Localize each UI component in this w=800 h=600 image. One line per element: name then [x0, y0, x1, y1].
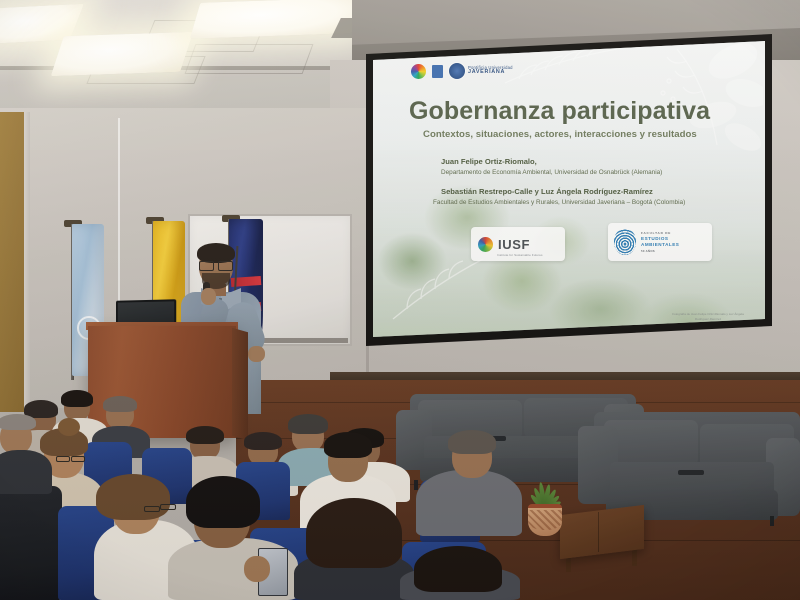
door-frame	[24, 112, 30, 412]
ceiling-panel	[185, 44, 314, 74]
slide-subtitle: Contextos, situaciones, actores, interac…	[423, 129, 753, 140]
slide-header-logos: Pontificia Universidad JAVERIANA	[411, 63, 513, 79]
auditorium-seat[interactable]	[0, 486, 62, 600]
facultad-line-4: 50 AÑOS	[641, 249, 655, 253]
slide-author-2: Sebastián Restrepo-Calle y Luz Ángela Ro…	[441, 187, 653, 196]
javeriana-wordmark-main: JAVERIANA	[468, 70, 513, 76]
ceiling-light-panel	[51, 32, 194, 76]
iusf-mark-icon	[478, 237, 493, 252]
rainbow-flower-logo-icon	[411, 64, 426, 79]
slide-affiliation-2: Facultad de Estudios Ambientales y Rural…	[433, 199, 685, 206]
podium-side-panel	[232, 328, 248, 441]
javeriana-logo: Pontificia Universidad JAVERIANA	[449, 63, 513, 79]
iusf-logo-badge: IUSF Institute for Sustainable Futures	[471, 227, 565, 261]
sofa-leg	[770, 516, 774, 526]
presenter-hair	[197, 243, 235, 263]
slide-title: Gobernanza participativa	[409, 97, 749, 126]
slide-author-1: Juan Felipe Ortiz-Riomalo,	[441, 157, 537, 166]
slide-affiliation-1: Departamento de Economía Ambiental, Univ…	[441, 169, 662, 176]
facultad-estudios-ambientales-rurales-badge: FACULTAD DE ESTUDIOS AMBIENTALES 50 AÑOS	[608, 223, 712, 261]
fingerprint-icon	[614, 229, 636, 255]
projection-screen: Pontificia Universidad JAVERIANA Goberna…	[373, 41, 765, 337]
wall-seam	[118, 118, 120, 314]
facultad-line-2: AMBIENTALES	[641, 242, 679, 247]
table-seam	[598, 512, 599, 552]
slide-photo-credit: Fotografía de Juan Felipe Ortiz-Riomalo …	[665, 312, 751, 321]
facultad-line-0: FACULTAD DE	[641, 231, 671, 235]
sofa-leg	[414, 480, 418, 490]
attendee-hand	[244, 556, 270, 582]
wooden-door[interactable]	[0, 112, 26, 412]
plant-pot-pattern	[528, 510, 562, 530]
iusf-label: IUSF	[498, 237, 530, 252]
presentation-photo-scene: Pontificia Universidad JAVERIANA Goberna…	[0, 0, 800, 600]
remote-control[interactable]	[678, 470, 704, 475]
facultad-line-1: ESTUDIOS	[641, 236, 668, 241]
javeriana-wordmark: Pontificia Universidad JAVERIANA	[468, 66, 513, 76]
iusf-sublabel: Institute for Sustainable Futures	[497, 253, 543, 257]
presenter-hand-gesturing	[248, 346, 265, 362]
eyeglasses-icon	[199, 261, 233, 269]
facultad-label-group: FACULTAD DE ESTUDIOS AMBIENTALES 50 AÑOS	[641, 230, 679, 255]
sofa-back-cushion	[604, 420, 698, 466]
javeriana-seal-icon	[449, 63, 465, 79]
presenter-hand-holding-microphone	[201, 288, 216, 305]
blue-square-logo-icon	[432, 65, 443, 78]
